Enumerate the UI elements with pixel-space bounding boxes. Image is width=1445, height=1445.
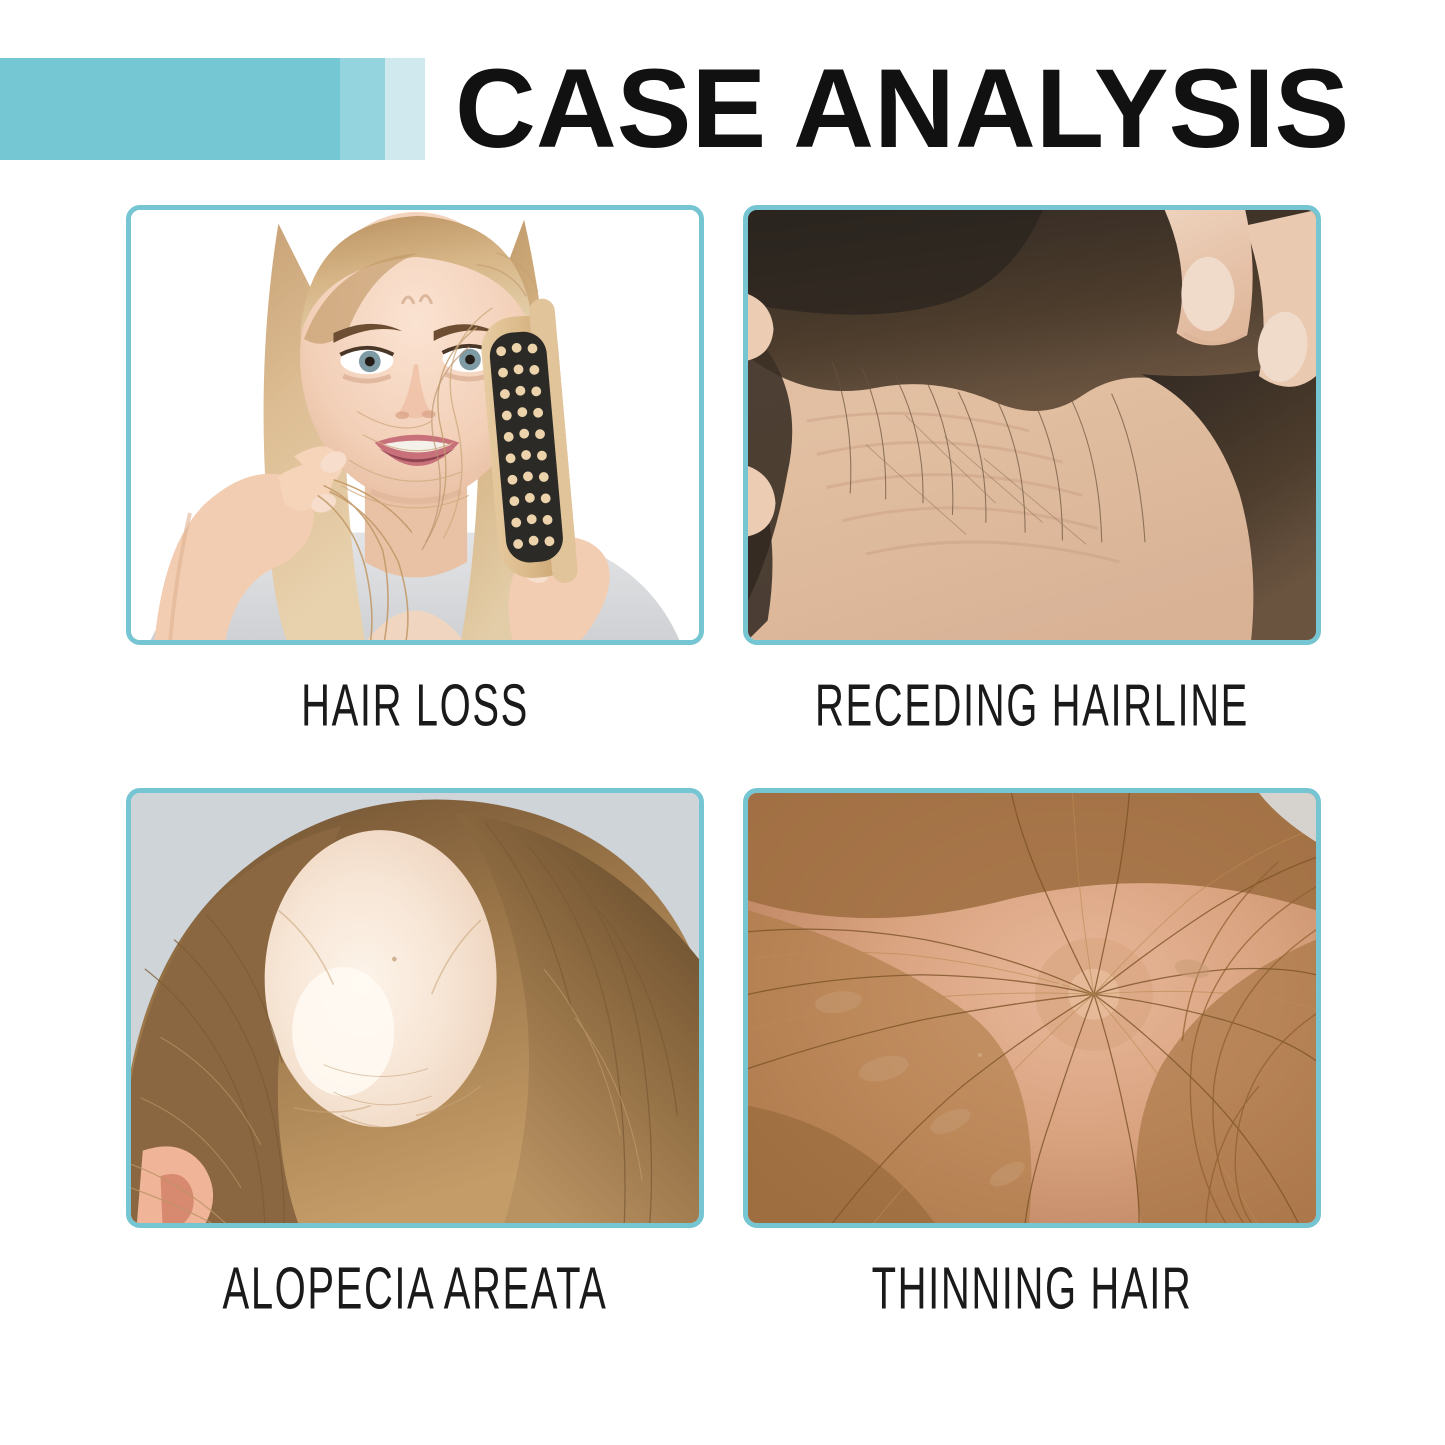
case-caption: HAIR LOSS (184, 671, 646, 739)
photo-alopecia-areata-bald-patch (131, 793, 699, 1223)
case-grid: HAIR LOSS (0, 205, 1445, 1371)
case-row-bottom: ALOPECIA AREATA (0, 788, 1445, 1371)
case-card-receding-hairline[interactable]: RECEDING HAIRLINE (743, 205, 1321, 729)
photo-frame (126, 205, 704, 645)
accent-bar-mid (340, 58, 385, 160)
case-card-alopecia-areata[interactable]: ALOPECIA AREATA (126, 788, 704, 1312)
photo-frame (126, 788, 704, 1228)
case-card-thinning-hair[interactable]: THINNING HAIR (743, 788, 1321, 1312)
page-header: CASE ANALYSIS (0, 58, 1445, 160)
case-caption: ALOPECIA AREATA (184, 1254, 646, 1322)
case-caption: THINNING HAIR (801, 1254, 1263, 1322)
photo-thinning-hair-crown (748, 793, 1316, 1223)
header-accent-bars (0, 58, 425, 160)
accent-bar-dark (0, 58, 340, 160)
page-title: CASE ANALYSIS (455, 54, 1349, 164)
case-card-hair-loss[interactable]: HAIR LOSS (126, 205, 704, 729)
photo-woman-with-hairbrush (131, 210, 699, 640)
photo-receding-hairline-scalp (748, 210, 1316, 640)
case-caption: RECEDING HAIRLINE (801, 671, 1263, 739)
photo-frame (743, 788, 1321, 1228)
accent-bar-light (385, 58, 425, 160)
case-row-top: HAIR LOSS (0, 205, 1445, 788)
photo-frame (743, 205, 1321, 645)
